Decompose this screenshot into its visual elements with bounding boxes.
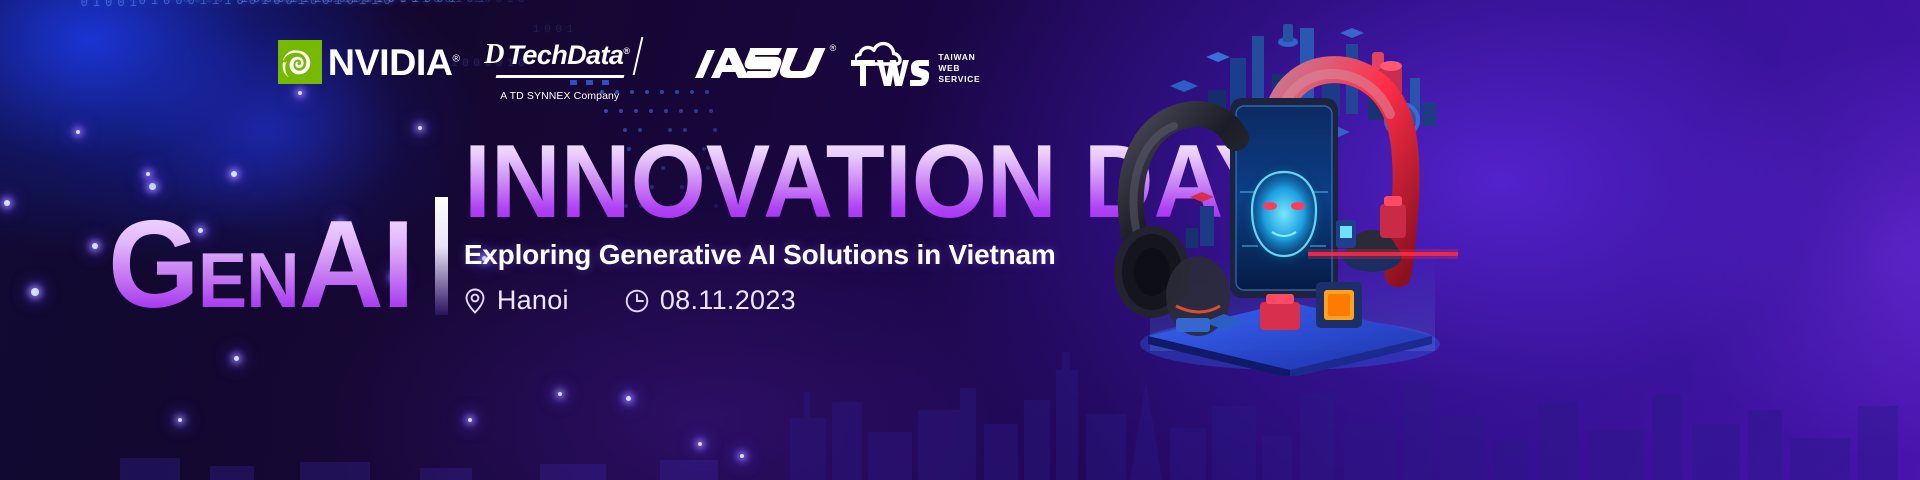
grid-dot bbox=[634, 109, 638, 113]
headline-divider bbox=[435, 197, 448, 315]
asus-trademark: ® bbox=[830, 43, 837, 53]
sparkle bbox=[178, 418, 182, 422]
sparkle bbox=[698, 442, 702, 446]
grid-dot bbox=[619, 109, 623, 113]
binary-column: 1 0 0 1 0 0 1 0 1 0 0 1 1 1 0 0 0 1 bbox=[238, 0, 458, 7]
nvidia-eye-icon bbox=[278, 40, 322, 84]
tws-wordmark-icon bbox=[851, 58, 929, 88]
partner-logo-strip: NVIDIA® D TechData® A TD SYNNEX Company bbox=[278, 34, 980, 96]
meta-location-label: Hanoi bbox=[497, 285, 569, 316]
sparkle bbox=[234, 356, 239, 361]
meta-date-label: 08.11.2023 bbox=[660, 285, 796, 316]
tws-sub-line-3: SERVICE bbox=[938, 74, 980, 85]
sparkle bbox=[31, 288, 39, 296]
binary-column: 1 0 0 1 0 bbox=[78, 0, 139, 11]
binary-column: 0 0 1 0 bbox=[258, 0, 303, 7]
clock-icon bbox=[625, 289, 649, 313]
grid-dot bbox=[709, 109, 713, 113]
logo-tech-data[interactable]: D TechData® A TD SYNNEX Company bbox=[480, 38, 639, 102]
binary-column: 0 1 0 0 1 0 0 0 1 0 1 bbox=[158, 0, 281, 3]
tws-sub-lines: TAIWAN WEB SERVICE bbox=[938, 52, 980, 88]
sparkle bbox=[626, 396, 631, 401]
binary-column: 0 0 1 0 0 0 1 0 0 1 0 1 0 0 1 bbox=[58, 0, 226, 3]
logo-nvidia[interactable]: NVIDIA® bbox=[278, 40, 458, 84]
binary-column: 0 0 1 0 bbox=[100, 0, 145, 5]
meta-location: Hanoi bbox=[464, 285, 569, 316]
binary-column: 1 0 1 0 0 1 0 1 0 1 0 0 1 1 0 bbox=[318, 0, 486, 7]
location-pin-icon bbox=[464, 288, 486, 314]
tech-data-dots bbox=[496, 80, 624, 85]
binary-column: 0 1 0 0 bbox=[180, 0, 225, 7]
asus-wordmark-icon bbox=[695, 44, 827, 84]
grid-dot bbox=[694, 109, 698, 113]
logo-asus[interactable]: ® bbox=[695, 44, 827, 84]
tech-data-wordmark: TechData® bbox=[508, 42, 630, 69]
binary-column: 0 1 0 0 1 bbox=[470, 0, 526, 7]
sparkle bbox=[558, 392, 562, 396]
binary-column: 0 1 1 0 1 0 0 1 0 0 1 0 0 1 1 1 0 0 0 1 … bbox=[136, 0, 393, 9]
tws-sub-line-1: TAIWAN bbox=[938, 52, 980, 63]
sparkle bbox=[92, 243, 98, 249]
sparkle bbox=[4, 200, 10, 206]
grid-dot bbox=[679, 109, 683, 113]
cityscape-silhouette bbox=[0, 340, 1920, 480]
nvidia-wordmark: NVIDIA® bbox=[328, 44, 460, 81]
binary-column: 0 0 1 0 bbox=[338, 0, 383, 3]
grid-dot bbox=[649, 109, 653, 113]
tech-data-slash bbox=[633, 37, 644, 75]
tech-data-tagline: A TD SYNNEX Company bbox=[500, 90, 619, 102]
sparkle bbox=[76, 130, 80, 134]
sparkle bbox=[468, 418, 472, 422]
tech-data-rule bbox=[495, 75, 624, 78]
logo-tws[interactable]: TAIWAN WEB SERVICE bbox=[855, 40, 980, 88]
grid-dot bbox=[604, 109, 608, 113]
sparkle bbox=[418, 126, 422, 130]
genai-innovation-day-banner: 0 0 1 0 0 0 1 0 0 1 0 1 0 0 11 0 0 1 00 … bbox=[0, 0, 1920, 480]
sparkle bbox=[740, 454, 744, 458]
headline-genai: GENAI bbox=[108, 212, 413, 319]
tws-sub-line-2: WEB bbox=[938, 63, 980, 74]
ai-tech-illustration bbox=[1080, 6, 1500, 376]
meta-date: 08.11.2023 bbox=[625, 285, 796, 316]
tech-data-monogram: D bbox=[484, 41, 503, 69]
grid-dot bbox=[664, 109, 668, 113]
